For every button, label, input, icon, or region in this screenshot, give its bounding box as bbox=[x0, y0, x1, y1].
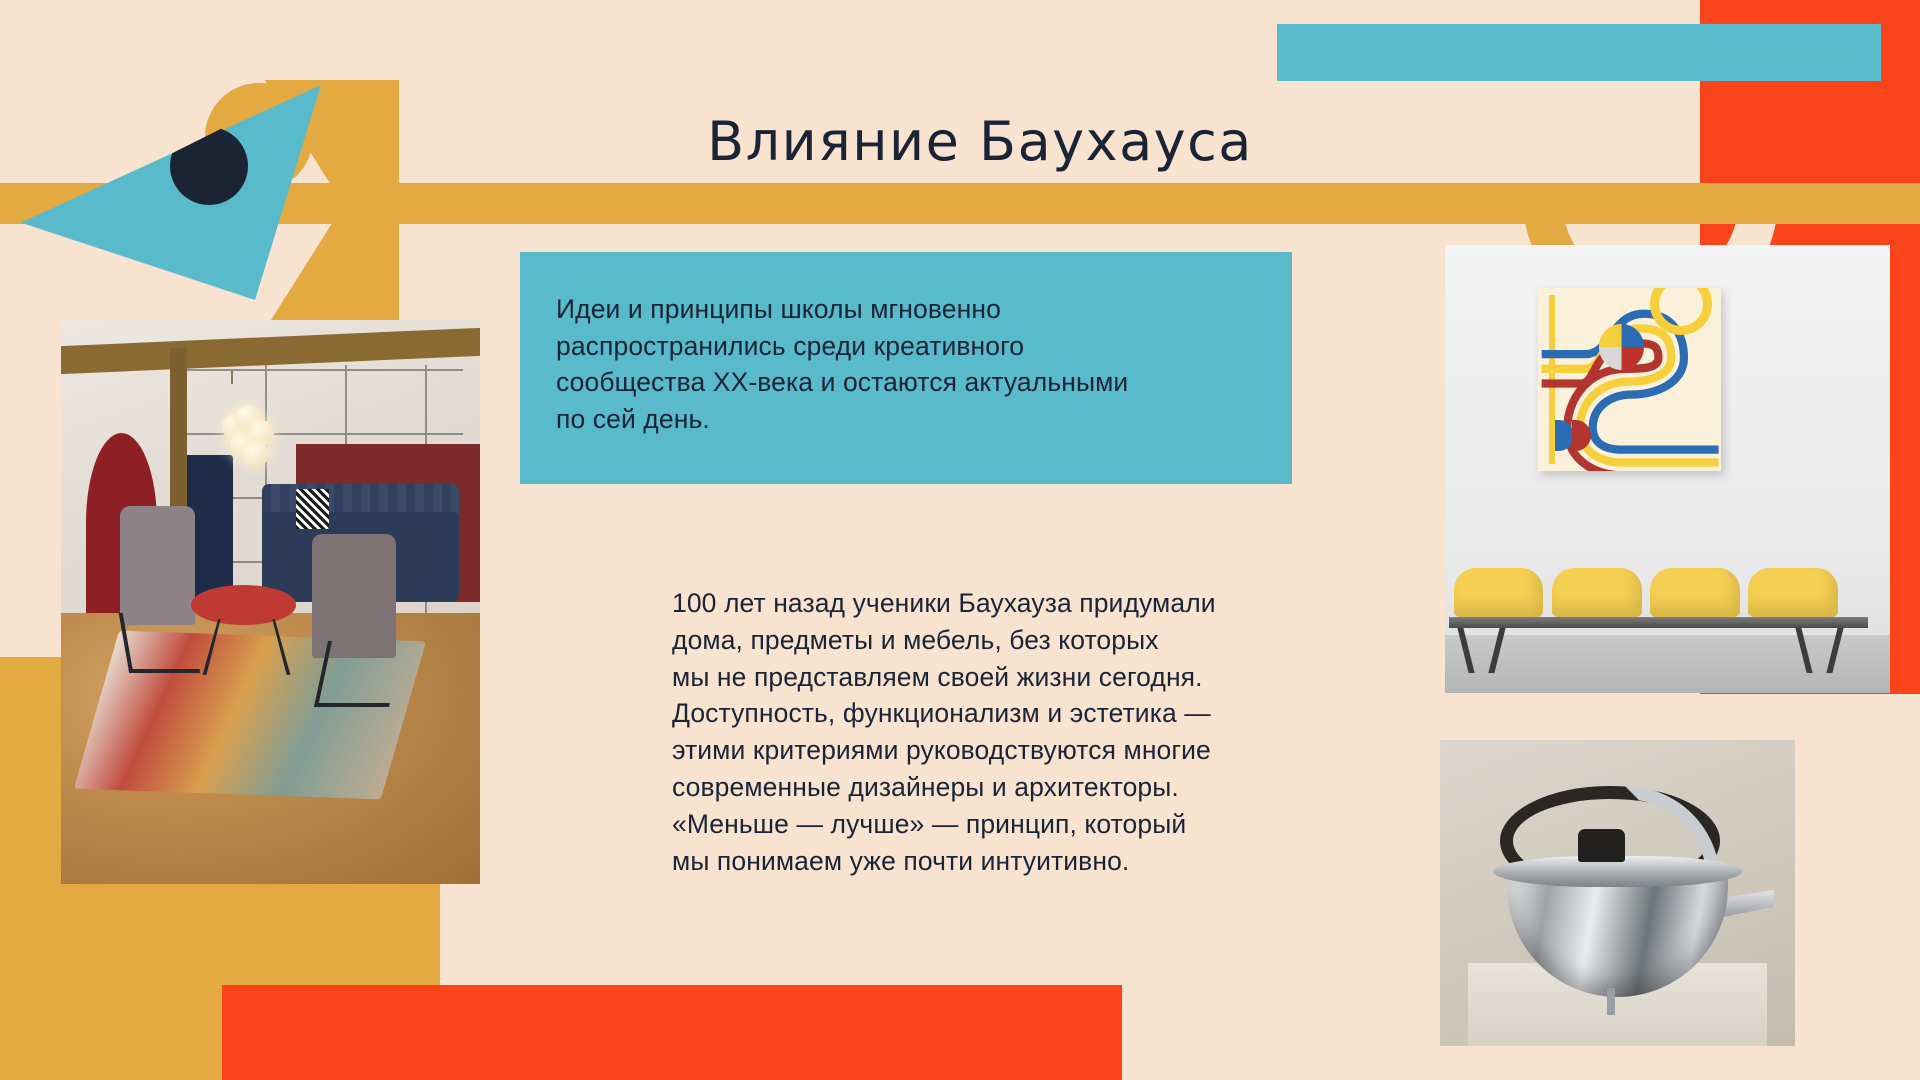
body-line: 100 лет назад ученики Баухауза придумали bbox=[672, 585, 1372, 622]
callout-line: по сей день. bbox=[556, 401, 1276, 438]
half-circle-pair-icon bbox=[1555, 420, 1595, 451]
bauhaus-artwork bbox=[1538, 288, 1720, 472]
navy-half-circle-icon bbox=[170, 127, 248, 205]
callout-line: сообщества XX-века и остаются актуальным… bbox=[556, 364, 1276, 401]
callout-line: Идеи и принципы школы мгновенно bbox=[556, 291, 1276, 328]
body-line: дома, предметы и мебель, без которых bbox=[672, 622, 1372, 659]
clock-face-icon bbox=[1599, 324, 1645, 370]
body-line: мы не представляем своей жизни сегодня. bbox=[672, 659, 1372, 696]
body-line: современные дизайнеры и архитекторы. bbox=[672, 769, 1372, 806]
body-paragraph: 100 лет назад ученики Баухауза придумали… bbox=[672, 585, 1372, 879]
callout-text: Идеи и принципы школы мгновенно распрост… bbox=[556, 291, 1276, 437]
yellow-band-over-arc bbox=[1700, 183, 1920, 224]
orange-block-bottom bbox=[222, 985, 1122, 1080]
body-line: Доступность, функционализм и эстетика — bbox=[672, 695, 1372, 732]
callout-line: распространились среди креативного bbox=[556, 328, 1276, 365]
page-title: Влияние Баухауса bbox=[660, 114, 1300, 171]
photo-yellow-chairs bbox=[1445, 245, 1890, 693]
pendant-lamp-icon bbox=[187, 371, 296, 484]
photo-interior-living-room bbox=[61, 320, 480, 884]
bench-seats bbox=[1449, 568, 1876, 617]
body-line: этими критериями руководствуются многие bbox=[672, 732, 1372, 769]
body-line: мы понимаем уже почти интуитивно. bbox=[672, 843, 1372, 880]
body-line: «Меньше — лучше» — принцип, который bbox=[672, 806, 1372, 843]
slide-canvas: Влияние Баухауса Идеи и принципы школы м… bbox=[0, 0, 1920, 1080]
photo-bauhaus-teapot bbox=[1440, 740, 1795, 1046]
